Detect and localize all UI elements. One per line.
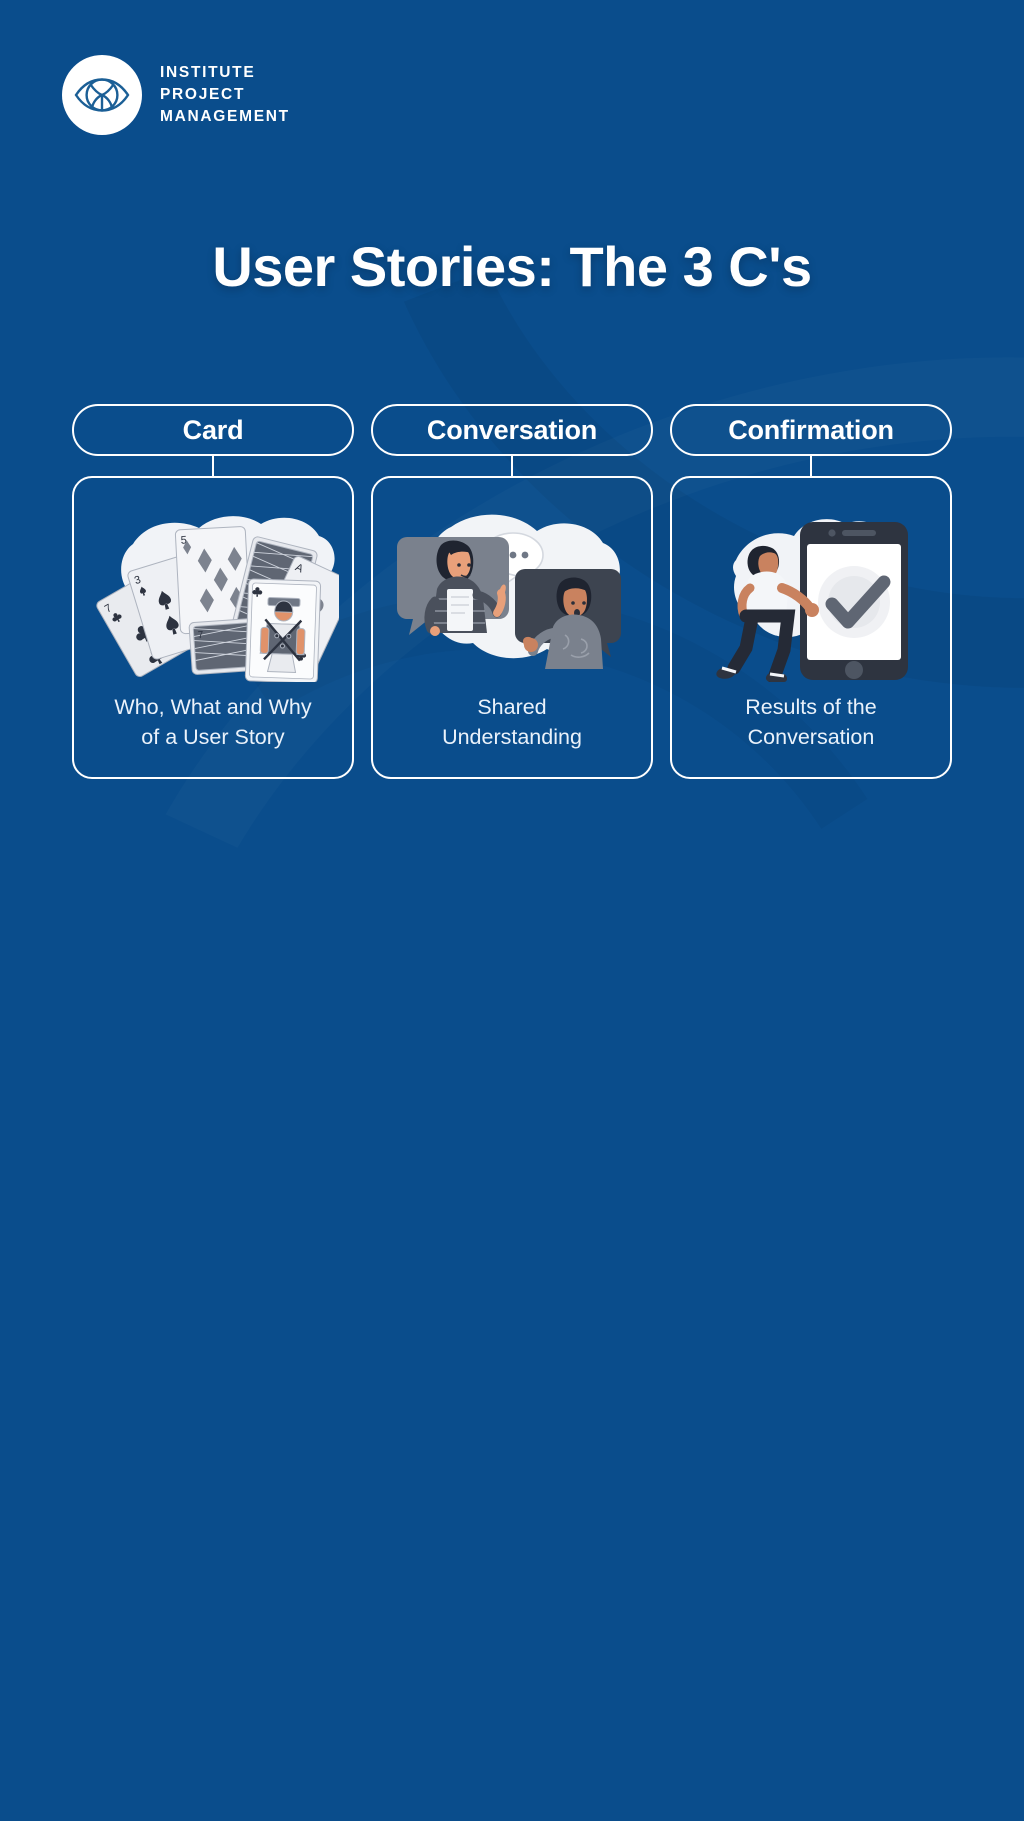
card-panel-card[interactable]: 7 [72, 476, 354, 779]
column-confirmation: Confirmation [670, 404, 952, 779]
playing-cards-fan-illustration: 7 [86, 492, 340, 692]
caption-conversation: Shared Understanding [442, 692, 582, 759]
checkmark-icon [818, 566, 890, 638]
card-panel-confirmation[interactable]: Results of the Conversation [670, 476, 952, 779]
pill-confirmation[interactable]: Confirmation [670, 404, 952, 456]
column-conversation: Conversation [371, 404, 653, 779]
page-title: User Stories: The 3 C's [0, 234, 1024, 299]
pill-conversation-label: Conversation [427, 415, 597, 446]
pill-card-label: Card [183, 415, 244, 446]
brand-logo: INSTITUTE PROJECT MANAGEMENT [62, 55, 290, 135]
brand-name-line-2: PROJECT [160, 84, 290, 106]
caption-confirmation: Results of the Conversation [745, 692, 876, 759]
person-phone-checkmark-illustration [684, 492, 938, 692]
pill-conversation[interactable]: Conversation [371, 404, 653, 456]
caption-card: Who, What and Why of a User Story [114, 692, 311, 759]
column-card: Card 7 [72, 404, 354, 779]
pill-card[interactable]: Card [72, 404, 354, 456]
card-panel-conversation[interactable]: Shared Understanding [371, 476, 653, 779]
connector-card [212, 456, 215, 476]
eye-y-monogram-icon [62, 55, 142, 135]
two-people-talking-speech-bubbles-illustration [385, 492, 639, 692]
brand-name: INSTITUTE PROJECT MANAGEMENT [160, 62, 290, 127]
three-cs-diagram: Card 7 [72, 404, 952, 779]
brand-name-line-3: MANAGEMENT [160, 106, 290, 128]
connector-confirmation [810, 456, 813, 476]
brand-name-line-1: INSTITUTE [160, 62, 290, 84]
connector-conversation [511, 456, 514, 476]
pill-confirmation-label: Confirmation [728, 415, 894, 446]
